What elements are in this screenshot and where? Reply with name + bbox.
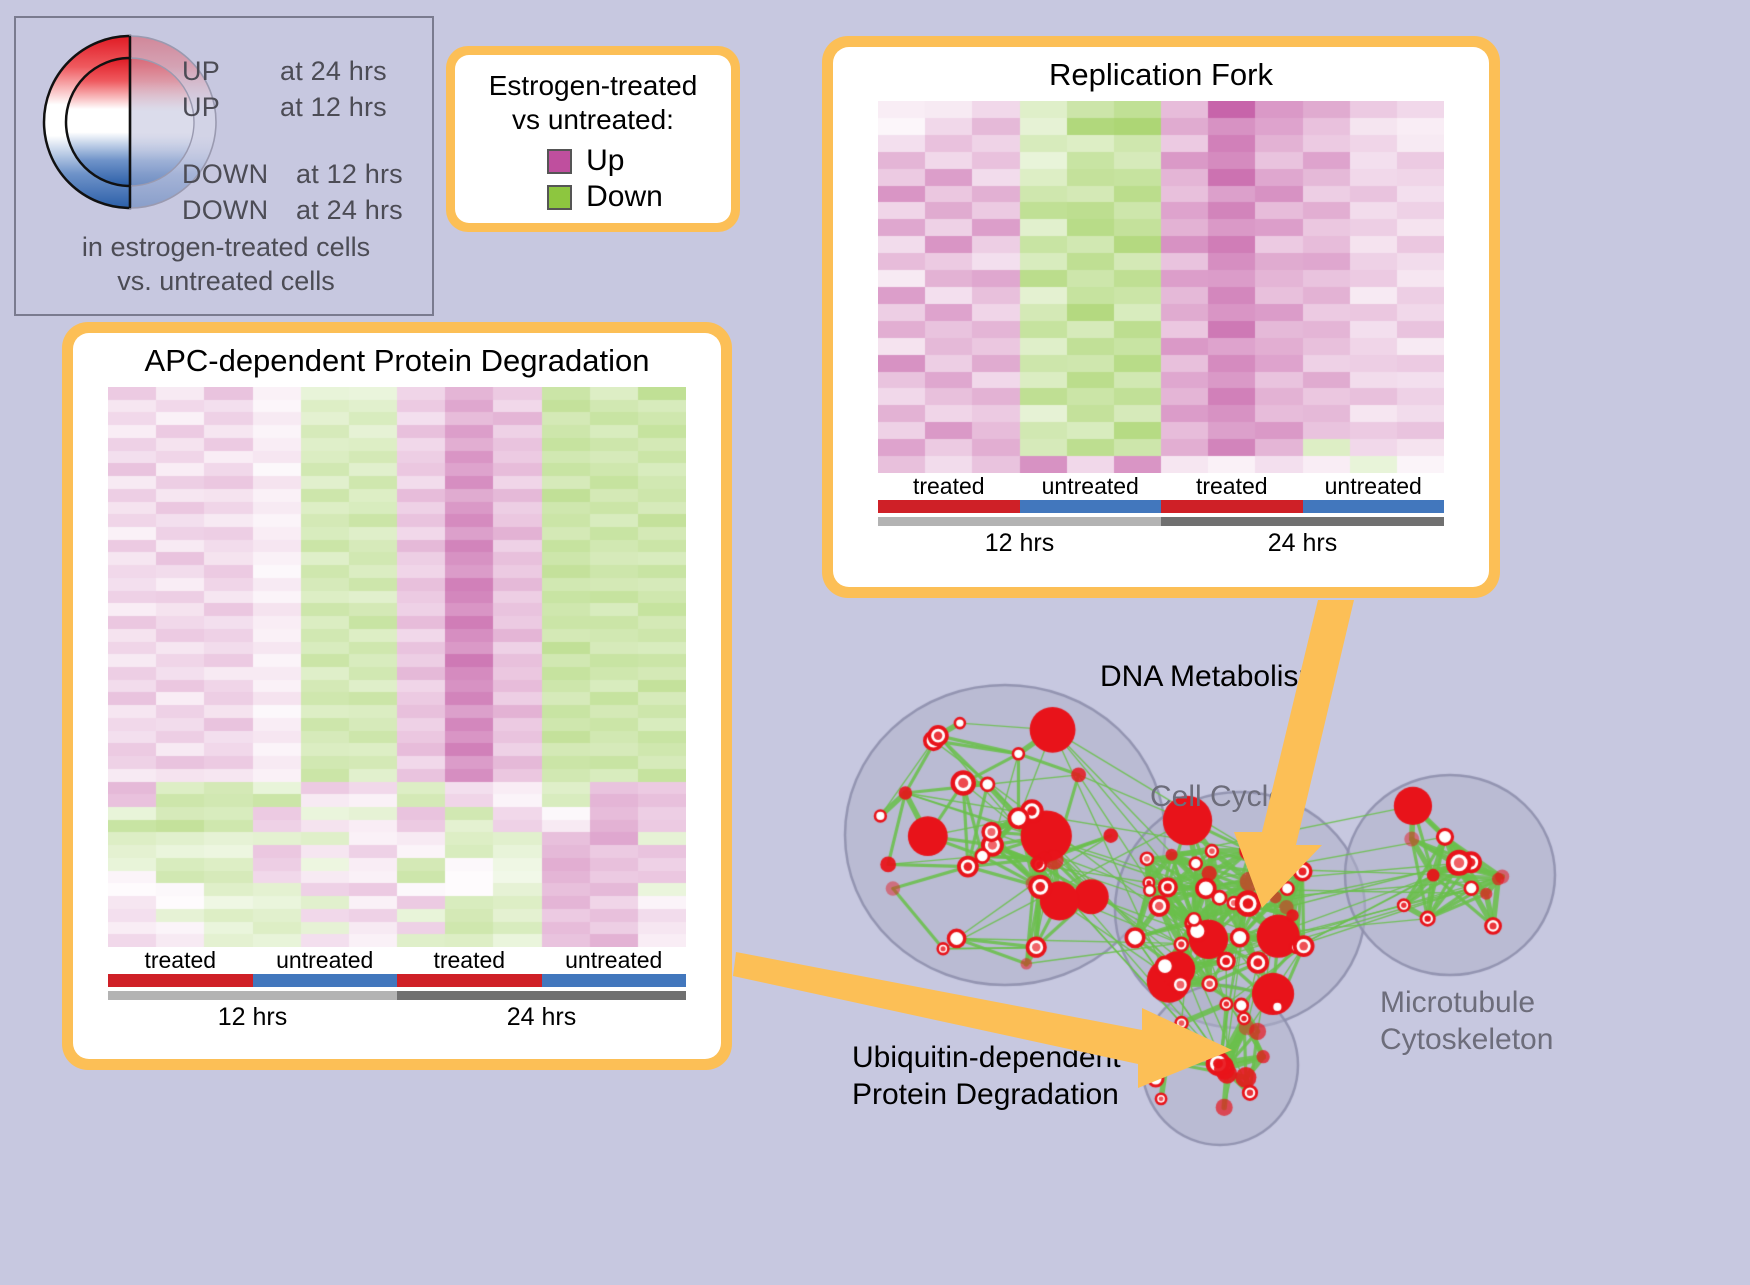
cluster-label-ubiquitin-line2: Protein Degradation [852,1077,1121,1114]
colorwheel-caption: in estrogen-treated cells vs. untreated … [16,230,436,298]
group-labels-replication: treateduntreatedtreateduntreated [878,473,1444,500]
treatment-bar-segment-1 [1020,500,1162,513]
colorwheel-legend-box: UP at 24 hrs UP at 12 hrs DOWN at 12 hrs… [14,16,434,316]
wheel-row-0-direction: UP [182,56,220,87]
legend-item-down-label: Down [586,180,663,214]
time-bar-segment-1 [397,991,686,1000]
heatmap-replication-fork [878,101,1444,473]
treatment-bar-replication [878,500,1444,513]
treatment-bar-segment-3 [542,974,687,987]
colorwheel-caption-line2: vs. untreated cells [16,264,436,298]
axis-apc: treateduntreatedtreateduntreated 12 hrs2… [73,947,721,1032]
axis-replication-fork: treateduntreatedtreateduntreated 12 hrs2… [833,473,1489,558]
cluster-label-microtubule-line2: Cytoskeleton [1380,1022,1553,1059]
legend-item-up: Up [523,144,663,178]
network-canvas [790,620,1580,1280]
group-label-3: untreated [542,947,687,974]
treatment-bar-segment-0 [108,974,253,987]
legend-item-up-label: Up [586,144,624,178]
panel-apc-degradation-title: APC-dependent Protein Degradation [145,343,650,379]
wheel-row-1-time: at 12 hrs [280,92,387,123]
time-labels-replication: 12 hrs24 hrs [878,529,1444,558]
group-label-1: untreated [1020,473,1162,500]
cluster-label-microtubule-cytoskeleton: Microtubule Cytoskeleton [1380,985,1553,1058]
time-bar-replication [878,517,1444,526]
cluster-label-dna-metabolism: DNA Metabolism [1100,660,1323,694]
wheel-row-3-time: at 24 hrs [296,195,403,226]
time-label-0: 12 hrs [878,529,1161,558]
time-bar-segment-0 [108,991,397,1000]
colorwheel-label-stack: UP at 24 hrs UP at 12 hrs DOWN at 12 hrs… [182,32,432,222]
updown-legend-title: Estrogen-treated vs untreated: [489,69,698,136]
group-labels-apc: treateduntreatedtreateduntreated [108,947,686,974]
up-swatch-icon [547,149,572,174]
time-label-1: 24 hrs [1161,529,1444,558]
wheel-row-3-direction: DOWN [182,195,268,226]
time-labels-apc: 12 hrs24 hrs [108,1003,686,1032]
pathway-network-diagram: DNA Metabolism Cell Cycle Microtubule Cy… [790,620,1580,1280]
treatment-bar-segment-0 [878,500,1020,513]
heatmap-apc-degradation [108,387,686,947]
updown-legend-title-line2: vs untreated: [489,103,698,137]
cluster-label-ubiquitin-line1: Ubiquitin-dependent [852,1040,1121,1077]
panel-replication-fork: Replication Fork treateduntreatedtreated… [822,36,1500,598]
group-label-3: untreated [1303,473,1445,500]
treatment-bar-segment-2 [1161,500,1303,513]
colorwheel-row: UP at 24 hrs UP at 12 hrs DOWN at 12 hrs… [32,32,424,222]
wheel-row-2-direction: DOWN [182,159,268,190]
treatment-bar-segment-1 [253,974,398,987]
group-label-2: treated [1161,473,1303,500]
group-label-0: treated [878,473,1020,500]
group-label-2: treated [397,947,542,974]
time-bar-segment-1 [1161,517,1444,526]
updown-legend-title-line1: Estrogen-treated [489,69,698,103]
panel-apc-degradation: APC-dependent Protein Degradation treate… [62,322,732,1070]
legend-item-down: Down [523,180,663,214]
figure-canvas: UP at 24 hrs UP at 12 hrs DOWN at 12 hrs… [0,0,1750,1279]
time-bar-segment-0 [878,517,1161,526]
wheel-row-1-direction: UP [182,92,220,123]
time-label-1: 24 hrs [397,1003,686,1032]
cluster-label-cell-cycle: Cell Cycle [1150,780,1285,814]
wheel-row-0-time: at 24 hrs [280,56,387,87]
cluster-label-microtubule-line1: Microtubule [1380,985,1553,1022]
time-label-0: 12 hrs [108,1003,397,1032]
panel-replication-fork-title: Replication Fork [1049,57,1273,93]
cluster-label-ubiquitin-degradation: Ubiquitin-dependent Protein Degradation [852,1040,1121,1113]
down-swatch-icon [547,185,572,210]
time-bar-apc [108,991,686,1000]
group-label-1: untreated [253,947,398,974]
group-label-0: treated [108,947,253,974]
updown-legend-box: Estrogen-treated vs untreated: Up Down [446,46,740,232]
treatment-bar-segment-2 [397,974,542,987]
treatment-bar-apc [108,974,686,987]
treatment-bar-segment-3 [1303,500,1445,513]
colorwheel-caption-line1: in estrogen-treated cells [16,230,436,264]
wheel-row-2-time: at 12 hrs [296,159,403,190]
